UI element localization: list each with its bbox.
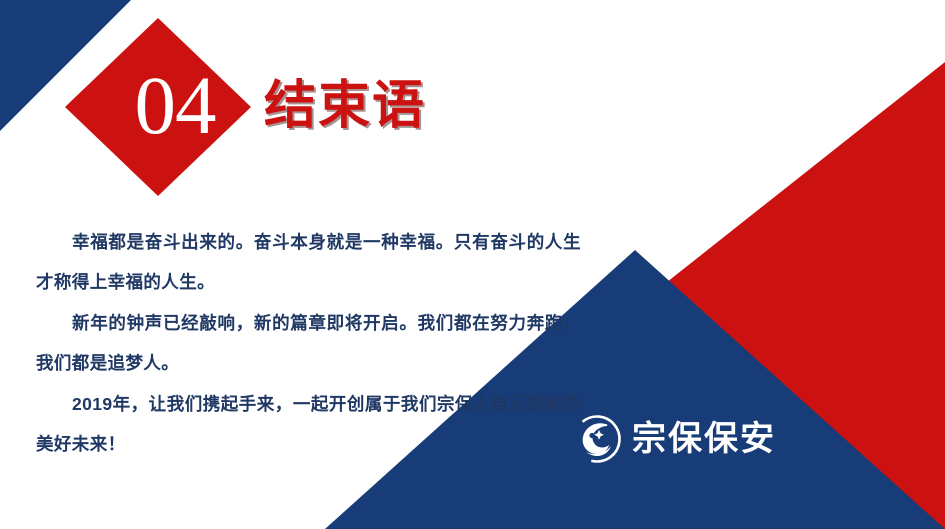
slide-canvas: 04 结束语 幸福都是奋斗出来的。奋斗本身就是一种幸福。只有奋斗的人生才称得上幸… [0, 0, 945, 529]
body-paragraph: 幸福都是奋斗出来的。奋斗本身就是一种幸福。只有奋斗的人生才称得上幸福的人生。 [36, 222, 581, 302]
eagle-circle-emblem-icon [572, 414, 622, 464]
section-number: 04 [65, 18, 251, 196]
body-paragraph: 新年的钟声已经敲响，新的篇章即将开启。我们都在努力奔跑，我们都是追梦人。 [36, 303, 581, 383]
page-title: 结束语 [264, 80, 426, 132]
company-logo: 宗保保安 [572, 414, 776, 464]
body-paragraph: 2019年，让我们携起手来，一起开创属于我们宗保人自己的新的美好未来！ [36, 384, 581, 464]
body-text-block: 幸福都是奋斗出来的。奋斗本身就是一种幸福。只有奋斗的人生才称得上幸福的人生。 新… [36, 222, 581, 465]
logo-wordmark: 宗保保安 [632, 422, 776, 456]
section-number-badge: 04 [65, 18, 251, 196]
